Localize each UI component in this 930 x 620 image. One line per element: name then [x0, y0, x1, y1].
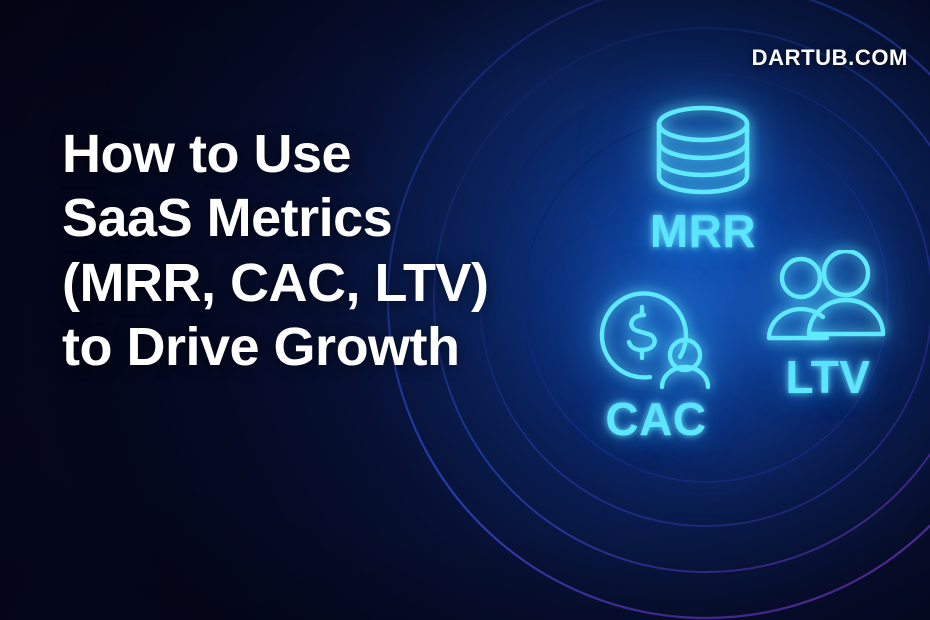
- cover-image: DARTUB.COM How to Use SaaS Metrics (MRR,…: [0, 0, 930, 620]
- metric-ltv: LTV: [748, 250, 908, 400]
- two-people-group-icon: [761, 250, 895, 354]
- title-line-4: to Drive Growth: [62, 315, 532, 379]
- metric-mrr: MRR: [608, 102, 798, 254]
- database-cylinder-icon: [637, 102, 769, 202]
- metric-ltv-label: LTV: [748, 354, 908, 400]
- metric-cac-label: CAC: [566, 396, 746, 442]
- title-line-3: (MRR, CAC, LTV): [62, 251, 532, 315]
- site-watermark: DARTUB.COM: [752, 45, 908, 71]
- metric-mrr-label: MRR: [608, 208, 798, 254]
- dollar-circle-person-icon: [586, 282, 726, 394]
- title-line-1: How to Use: [62, 122, 532, 186]
- page-title: How to Use SaaS Metrics (MRR, CAC, LTV) …: [62, 122, 532, 379]
- title-line-2: SaaS Metrics: [62, 186, 532, 250]
- metric-cac: CAC: [566, 282, 746, 442]
